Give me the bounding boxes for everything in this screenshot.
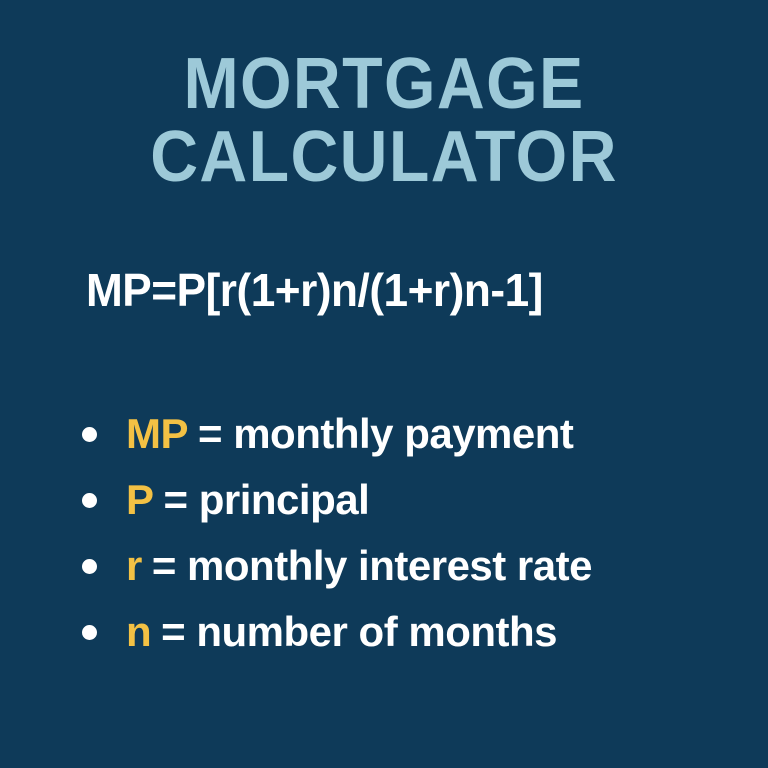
list-item: r = monthly interest rate [80, 533, 740, 599]
variable-description: = monthly interest rate [152, 543, 592, 589]
variable-legend-list: MP = monthly payment P = principal r = m… [80, 401, 740, 665]
variable-symbol: r [126, 543, 142, 589]
list-item: n = number of months [80, 599, 740, 665]
mortgage-calculator-poster: MORTGAGE CALCULATOR MP=P[r(1+r)n/(1+r)n-… [0, 0, 768, 768]
page-title-line-1: MORTGAGE [31, 48, 738, 121]
variable-symbol: MP [126, 411, 188, 457]
bullet-icon [82, 427, 97, 442]
bullet-icon [82, 625, 97, 640]
bullet-icon [82, 559, 97, 574]
page-title-line-2: CALCULATOR [31, 121, 738, 194]
variable-description: = monthly payment [198, 411, 573, 457]
list-item: MP = monthly payment [80, 401, 740, 467]
variable-description: = number of months [161, 609, 557, 655]
variable-symbol: n [126, 609, 151, 655]
page-title: MORTGAGE CALCULATOR [0, 48, 768, 194]
bullet-icon [82, 493, 97, 508]
variable-symbol: P [126, 477, 154, 523]
variable-description: = principal [164, 477, 370, 523]
list-item: P = principal [80, 467, 740, 533]
mortgage-formula: MP=P[r(1+r)n/(1+r)n-1] [86, 262, 543, 318]
